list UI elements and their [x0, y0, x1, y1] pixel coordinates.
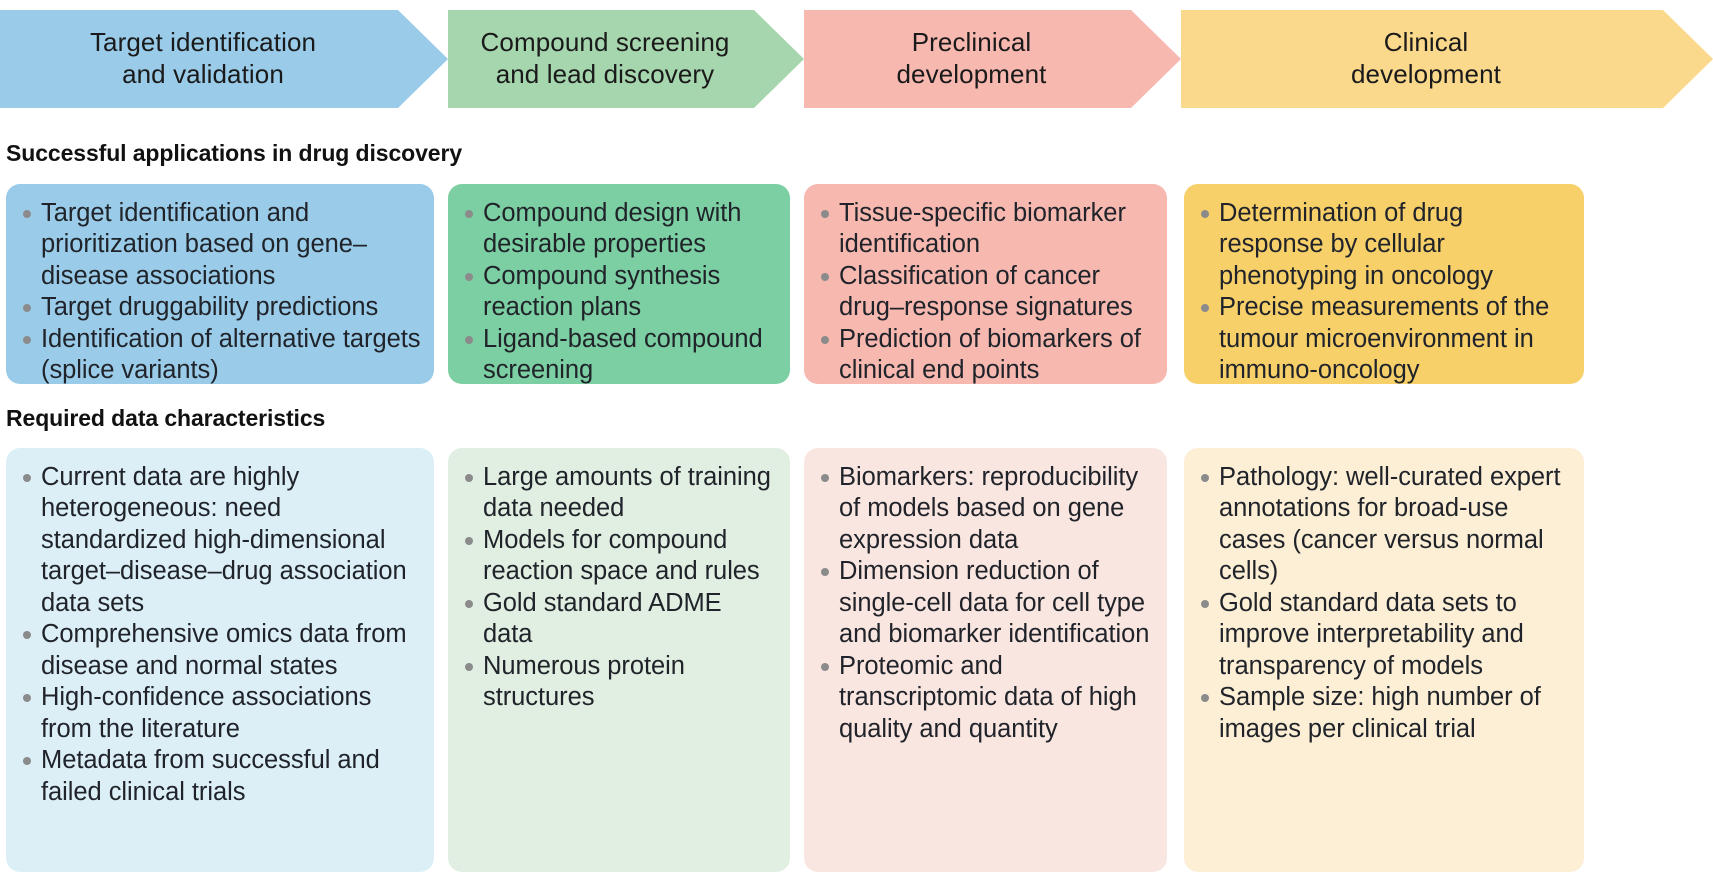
- list-item: Large amounts of training data needed: [462, 462, 778, 525]
- list-item: Proteomic and transcriptomic data of hig…: [818, 651, 1155, 745]
- list-item: Determination of drug response by cellul…: [1198, 198, 1572, 292]
- applications-card-preclinical: Tissue-specific biomarker identification…: [804, 184, 1167, 384]
- stage-arrow-2: Compound screening and lead discovery: [448, 6, 804, 112]
- list-item: Metadata from successful and failed clin…: [20, 745, 422, 808]
- list-item: Current data are highly heterogeneous: n…: [20, 462, 422, 619]
- list-item: Precise measurements of the tumour micro…: [1198, 292, 1572, 384]
- bullet-list: Large amounts of training data needed Mo…: [462, 462, 778, 714]
- stage-arrow-1: Target identification and validation: [0, 6, 448, 112]
- list-item: Sample size: high number of images per c…: [1198, 682, 1572, 745]
- data-characteristics-card-row: Current data are highly heterogeneous: n…: [0, 448, 1713, 872]
- list-item: Comprehensive omics data from disease an…: [20, 619, 422, 682]
- stage-arrow-label-1: Target identification and validation: [90, 27, 358, 90]
- bullet-list: Biomarkers: reproducibility of models ba…: [818, 462, 1155, 745]
- list-item: Tissue-specific biomarker identification: [818, 198, 1155, 261]
- applications-card-target-identification: Target identification and prioritization…: [6, 184, 434, 384]
- bullet-list: Tissue-specific biomarker identification…: [818, 198, 1155, 384]
- bullet-list: Determination of drug response by cellul…: [1198, 198, 1572, 384]
- stage-arrow-label-4: Clinical development: [1351, 27, 1543, 90]
- pipeline-arrow-banner: Target identification and validation Com…: [0, 6, 1713, 112]
- list-item: Identification of alternative targets (s…: [20, 324, 422, 384]
- list-item: Biomarkers: reproducibility of models ba…: [818, 462, 1155, 556]
- list-item: High-confidence associations from the li…: [20, 682, 422, 745]
- stage-arrow-label-3: Preclinical development: [897, 27, 1089, 90]
- applications-card-clinical: Determination of drug response by cellul…: [1184, 184, 1584, 384]
- list-item: Gold standard data sets to improve inter…: [1198, 588, 1572, 682]
- bullet-list: Current data are highly heterogeneous: n…: [20, 462, 422, 808]
- list-item: Ligand-based compound screening: [462, 324, 778, 384]
- stage-arrow-label-2: Compound screening and lead discovery: [481, 27, 772, 90]
- list-item: Compound design with desirable propertie…: [462, 198, 778, 261]
- data-card-clinical: Pathology: well-curated expert annotatio…: [1184, 448, 1584, 872]
- list-item: Numerous protein structures: [462, 651, 778, 714]
- stage-arrow-4: Clinical development: [1181, 6, 1713, 112]
- applications-card-compound-screening: Compound design with desirable propertie…: [448, 184, 790, 384]
- list-item: Target druggability predictions: [20, 292, 422, 323]
- list-item: Compound synthesis reaction plans: [462, 261, 778, 324]
- list-item: Gold standard ADME data: [462, 588, 778, 651]
- data-card-compound-screening: Large amounts of training data needed Mo…: [448, 448, 790, 872]
- bullet-list: Pathology: well-curated expert annotatio…: [1198, 462, 1572, 745]
- list-item: Classification of cancer drug–response s…: [818, 261, 1155, 324]
- list-item: Dimension reduction of single-cell data …: [818, 556, 1155, 650]
- bullet-list: Compound design with desirable propertie…: [462, 198, 778, 384]
- applications-card-row: Target identification and prioritization…: [0, 184, 1713, 384]
- list-item: Prediction of biomarkers of clinical end…: [818, 324, 1155, 384]
- list-item: Pathology: well-curated expert annotatio…: [1198, 462, 1572, 588]
- data-card-preclinical: Biomarkers: reproducibility of models ba…: [804, 448, 1167, 872]
- stage-arrow-3: Preclinical development: [804, 6, 1181, 112]
- data-characteristics-section-heading: Required data characteristics: [6, 405, 325, 432]
- applications-section-heading: Successful applications in drug discover…: [6, 140, 462, 167]
- bullet-list: Target identification and prioritization…: [20, 198, 422, 384]
- data-card-target-identification: Current data are highly heterogeneous: n…: [6, 448, 434, 872]
- list-item: Target identification and prioritization…: [20, 198, 422, 292]
- list-item: Models for compound reaction space and r…: [462, 525, 778, 588]
